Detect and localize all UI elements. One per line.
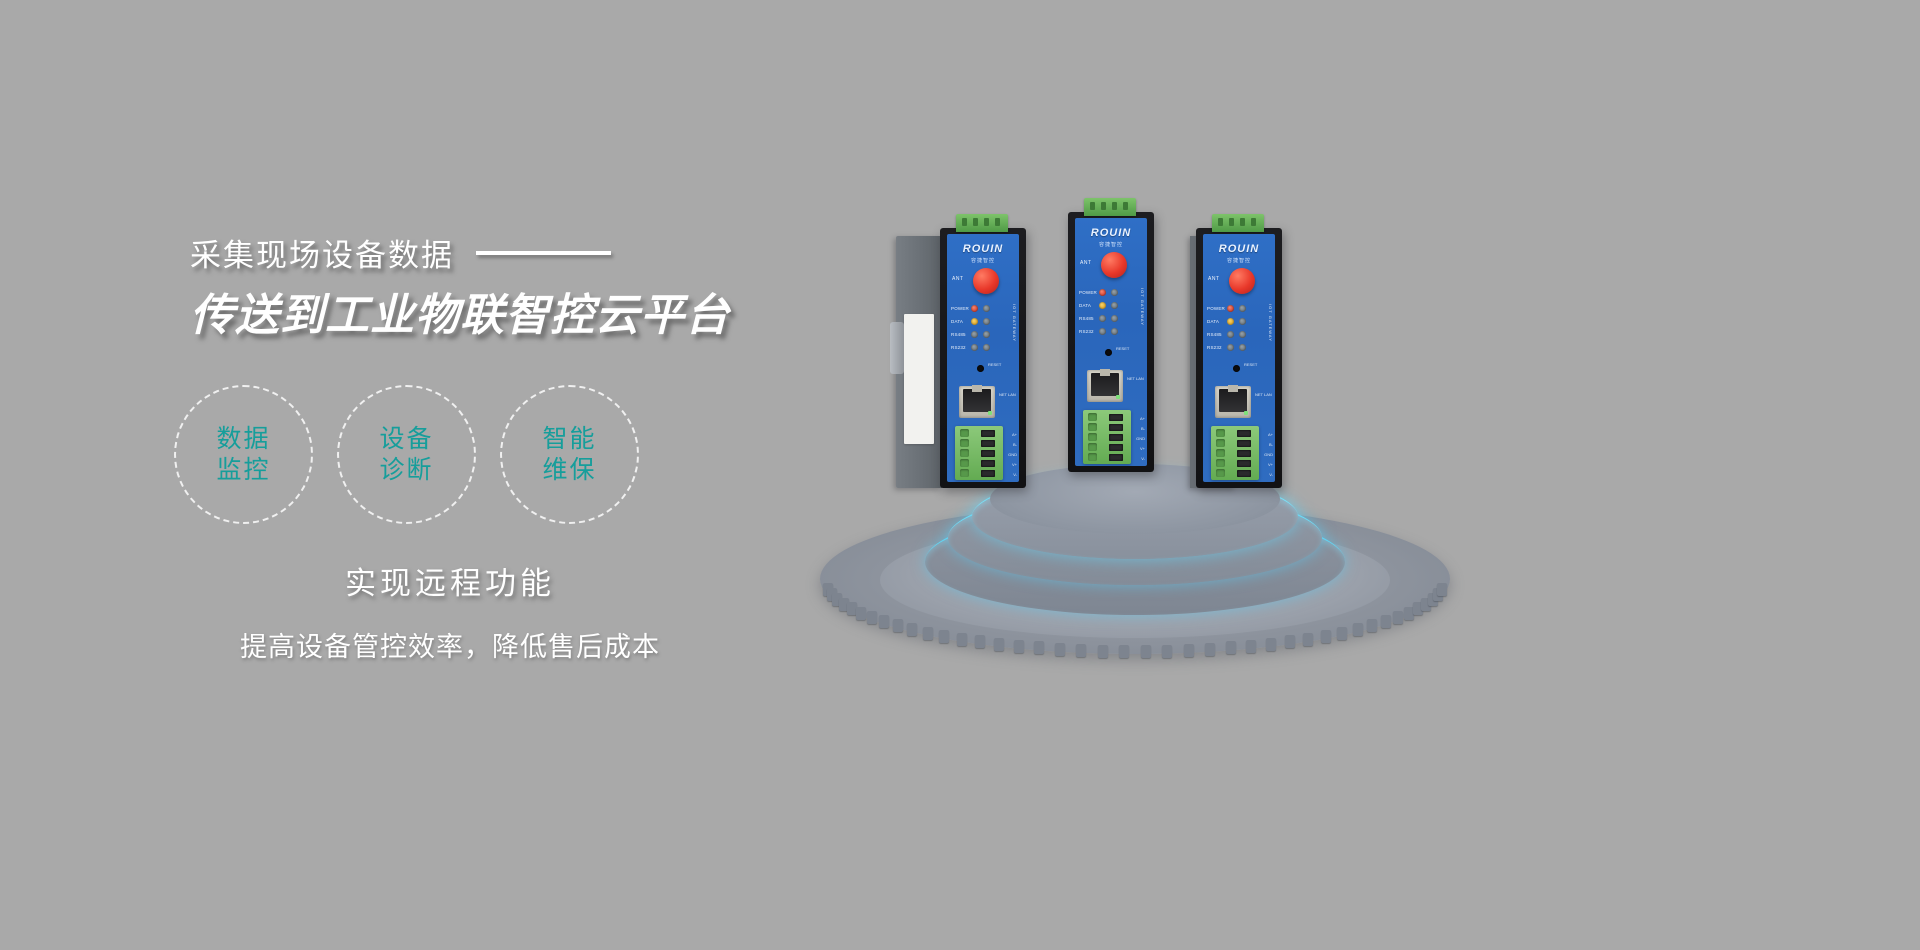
device-side-text: IOT GATEWAY [1140, 288, 1145, 326]
gear-tooth [1226, 641, 1236, 654]
ethernet-link-led [1244, 411, 1248, 415]
ethernet-port [959, 386, 995, 418]
led-label: RS232 [1079, 329, 1099, 334]
ethernet-port [1215, 386, 1251, 418]
gear-tooth [1184, 644, 1194, 657]
terminal-pin-label: GND [1008, 450, 1017, 460]
led-label: POWER [951, 306, 971, 311]
brand-logo: ROUIN [1203, 243, 1275, 255]
antenna-label: ANT [1208, 276, 1220, 282]
gear-tooth [1076, 644, 1086, 657]
led-row: POWER [1079, 286, 1143, 299]
terminal-hole [960, 439, 969, 447]
gear-tooth [975, 635, 985, 648]
terminal-hole [960, 469, 969, 477]
led-label: POWER [1079, 290, 1099, 295]
ethernet-port-notch [972, 385, 982, 392]
device-side-text: IOT GATEWAY [1268, 304, 1273, 342]
led-label: RS232 [1207, 345, 1227, 350]
led-indicator [983, 331, 990, 338]
terminal-screw [1237, 460, 1251, 467]
terminal-screw [981, 440, 995, 447]
led-indicator [1099, 302, 1106, 309]
led-indicator [1099, 328, 1106, 335]
terminal-hole [1216, 469, 1225, 477]
feature-circle-list: 数据 监控 设备 诊断 智能 维保 [174, 385, 850, 524]
ethernet-port-notch [1100, 369, 1110, 376]
reset-label: RESET [1116, 346, 1129, 351]
gear-tooth [1098, 645, 1108, 658]
led-indicator [1111, 328, 1118, 335]
terminal-hole [1216, 459, 1225, 467]
foot-tagline: 提高设备管控效率，降低售后成本 [190, 625, 710, 664]
din-rail-clip [890, 322, 904, 374]
terminal-screw [981, 430, 995, 437]
terminal-pin-label: V- [1264, 470, 1273, 480]
lan-label: NET LAN [1127, 376, 1144, 381]
gear-tooth [1119, 645, 1129, 658]
terminal-pin-label: V+ [1264, 460, 1273, 470]
terminal-screw [1109, 424, 1123, 431]
terminal-screw [1237, 440, 1251, 447]
led-row: RS232 [1079, 325, 1143, 338]
led-row: POWER [951, 302, 1015, 315]
feature-label-line1: 设备 [379, 424, 433, 455]
led-indicator [971, 318, 978, 325]
led-indicator [1099, 289, 1106, 296]
led-indicator [1111, 289, 1118, 296]
terminal-screw [1109, 444, 1123, 451]
led-label: RS485 [1207, 332, 1227, 337]
gear-tooth [1367, 619, 1377, 632]
reset-button[interactable] [1233, 365, 1240, 372]
led-row: RS485 [1079, 312, 1143, 325]
brand-name-cn: 容捷智控 [1075, 241, 1147, 248]
serial-terminal-block [955, 426, 1003, 480]
gear-tooth [1246, 640, 1256, 653]
led-row: RS232 [951, 341, 1015, 354]
gear-tooth [1034, 641, 1044, 654]
led-row: DATA [951, 315, 1015, 328]
antenna-label: ANT [1080, 260, 1092, 266]
reset-label: RESET [988, 362, 1001, 367]
terminal-pin-labels: A+B-GNDV+V- [1136, 414, 1145, 464]
lan-label: NET LAN [1255, 392, 1272, 397]
led-indicator [1239, 318, 1246, 325]
reset-button[interactable] [1105, 349, 1112, 356]
brand-logo: ROUIN [947, 243, 1019, 255]
led-label: RS485 [1079, 316, 1099, 321]
terminal-pin-label: GND [1136, 434, 1145, 444]
gear-tooth [939, 630, 949, 643]
terminal-pin-label: V+ [1008, 460, 1017, 470]
terminal-hole [1216, 439, 1225, 447]
terminal-hole [960, 449, 969, 457]
feature-circle-smart-maintenance[interactable]: 智能 维保 [500, 385, 639, 524]
gear-tooth [1162, 645, 1172, 658]
terminal-screw [1109, 454, 1123, 461]
led-row: RS485 [951, 328, 1015, 341]
terminal-pin-label: B- [1264, 440, 1273, 450]
headline-title: 传送到工业物联智控云平台 [190, 279, 850, 343]
antenna-connector [1229, 268, 1255, 294]
led-indicator [983, 344, 990, 351]
terminal-pin-label: V+ [1136, 444, 1145, 454]
terminal-screw [1109, 434, 1123, 441]
led-indicator [971, 331, 978, 338]
led-indicator [983, 318, 990, 325]
terminal-hole [1088, 413, 1097, 421]
led-indicator [1239, 331, 1246, 338]
gear-tooth [957, 633, 967, 646]
led-row: POWER [1207, 302, 1271, 315]
led-indicator [1239, 344, 1246, 351]
headline-subtitle: 采集现场设备数据 [190, 230, 454, 275]
terminal-screw [1237, 450, 1251, 457]
gear-tooth [1014, 640, 1024, 653]
led-panel: POWER DATA RS485 RS232 [1207, 302, 1271, 354]
led-indicator [1111, 315, 1118, 322]
terminal-screw [981, 450, 995, 457]
feature-label-line2: 诊断 [379, 455, 433, 486]
terminal-pin-label: V- [1008, 470, 1017, 480]
led-panel: POWER DATA RS485 RS232 [1079, 286, 1143, 338]
led-panel: POWER DATA RS485 RS232 [951, 302, 1015, 354]
power-terminal-top [1084, 198, 1136, 216]
led-indicator [1227, 305, 1234, 312]
terminal-screw [1237, 470, 1251, 477]
gear-tooth [867, 611, 877, 624]
power-terminal-top [956, 214, 1008, 232]
gear-tooth [1337, 627, 1347, 640]
lan-label: NET LAN [999, 392, 1016, 397]
led-label: RS485 [951, 332, 971, 337]
led-label: POWER [1207, 306, 1227, 311]
gear-tooth [1393, 611, 1403, 624]
terminal-pin-label: V- [1136, 454, 1145, 464]
antenna-label: ANT [952, 276, 964, 282]
led-indicator [971, 305, 978, 312]
led-indicator [1111, 302, 1118, 309]
gear-tooth [893, 619, 903, 632]
antenna-connector [973, 268, 999, 294]
terminal-screw [1237, 430, 1251, 437]
power-terminal-top [1212, 214, 1264, 232]
feature-circle-data-monitor[interactable]: 数据 监控 [174, 385, 313, 524]
feature-label-line1: 智能 [542, 424, 596, 455]
feature-label-line2: 监控 [216, 455, 270, 486]
device-side-panel [896, 236, 942, 488]
led-indicator [1227, 331, 1234, 338]
product-scene: ROUIN 容捷智控 ANT POWER DATA RS485 [800, 200, 1500, 670]
headline-rule [476, 251, 611, 255]
gear-tooth [1381, 615, 1391, 628]
ethernet-link-led [1116, 395, 1120, 399]
brand-name-cn: 容捷智控 [1203, 257, 1275, 264]
ethernet-port-opening [1219, 389, 1247, 412]
podium [820, 470, 1450, 660]
terminal-screw [981, 460, 995, 467]
terminal-hole [1216, 449, 1225, 457]
gear-tooth [907, 623, 917, 636]
led-row: DATA [1207, 315, 1271, 328]
led-label: DATA [951, 319, 971, 324]
gear-tooth [879, 615, 889, 628]
terminal-hole [960, 459, 969, 467]
terminal-pin-label: A+ [1264, 430, 1273, 440]
ethernet-port [1087, 370, 1123, 402]
device-front-panel: ROUIN 容捷智控 ANT POWER DATA RS485 [1203, 234, 1275, 482]
device-chassis: ROUIN 容捷智控 ANT POWER DATA RS485 [1068, 212, 1154, 472]
terminal-hole [1216, 429, 1225, 437]
terminal-pin-label: B- [1136, 424, 1145, 434]
gear-tooth [1205, 643, 1215, 656]
gear-tooth [1437, 583, 1447, 596]
serial-terminal-block [1083, 410, 1131, 464]
reset-label: RESET [1244, 362, 1257, 367]
gear-tooth [856, 607, 866, 620]
ethernet-port-notch [1228, 385, 1238, 392]
feature-label-line2: 维保 [542, 455, 596, 486]
terminal-pin-label: A+ [1008, 430, 1017, 440]
gear-tooth [994, 638, 1004, 651]
gear-tooth [1321, 630, 1331, 643]
terminal-screw [1109, 414, 1123, 421]
ethernet-port-opening [1091, 373, 1119, 396]
gear-tooth [1285, 635, 1295, 648]
led-indicator [971, 344, 978, 351]
gear-tooth [1353, 623, 1363, 636]
gear-tooth [1303, 633, 1313, 646]
device-chassis: ROUIN 容捷智控 ANT POWER DATA RS485 [1196, 228, 1282, 488]
led-indicator [1239, 305, 1246, 312]
antenna-connector [1101, 252, 1127, 278]
terminal-pin-labels: A+B-GNDV+V- [1008, 430, 1017, 480]
gear-tooth [1055, 643, 1065, 656]
led-indicator [1227, 318, 1234, 325]
led-row: DATA [1079, 299, 1143, 312]
led-label: RS232 [951, 345, 971, 350]
terminal-hole [1088, 423, 1097, 431]
gear-tooth [1141, 645, 1151, 658]
terminal-hole [1088, 453, 1097, 461]
device-front-panel: ROUIN 容捷智控 ANT POWER DATA RS485 [947, 234, 1019, 482]
device-front-panel: ROUIN 容捷智控 ANT POWER DATA RS485 [1075, 218, 1147, 466]
ethernet-link-led [988, 411, 992, 415]
terminal-screw [981, 470, 995, 477]
led-label: DATA [1079, 303, 1099, 308]
led-row: RS232 [1207, 341, 1271, 354]
device-spec-label [904, 314, 934, 444]
feature-circle-device-diagnosis[interactable]: 设备 诊断 [337, 385, 476, 524]
led-indicator [1227, 344, 1234, 351]
copy-block: 采集现场设备数据 传送到工业物联智控云平台 数据 监控 设备 诊断 智能 维保 … [190, 230, 850, 664]
terminal-hole [1088, 443, 1097, 451]
terminal-hole [960, 429, 969, 437]
terminal-pin-label: A+ [1136, 414, 1145, 424]
ethernet-port-opening [963, 389, 991, 412]
mid-tagline: 实现远程功能 [190, 558, 710, 603]
led-label: DATA [1207, 319, 1227, 324]
terminal-pin-label: B- [1008, 440, 1017, 450]
device-chassis: ROUIN 容捷智控 ANT POWER DATA RS485 [940, 228, 1026, 488]
banner-stage: 采集现场设备数据 传送到工业物联智控云平台 数据 监控 设备 诊断 智能 维保 … [0, 0, 1920, 950]
gear-tooth [1266, 638, 1276, 651]
reset-button[interactable] [977, 365, 984, 372]
device-side-text: IOT GATEWAY [1012, 304, 1017, 342]
brand-logo: ROUIN [1075, 227, 1147, 239]
led-row: RS485 [1207, 328, 1271, 341]
brand-name-cn: 容捷智控 [947, 257, 1019, 264]
led-indicator [983, 305, 990, 312]
terminal-hole [1088, 433, 1097, 441]
terminal-pin-label: GND [1264, 450, 1273, 460]
headline-row: 采集现场设备数据 [190, 230, 850, 275]
gear-tooth [923, 627, 933, 640]
led-indicator [1099, 315, 1106, 322]
feature-label-line1: 数据 [216, 424, 270, 455]
serial-terminal-block [1211, 426, 1259, 480]
terminal-pin-labels: A+B-GNDV+V- [1264, 430, 1273, 480]
